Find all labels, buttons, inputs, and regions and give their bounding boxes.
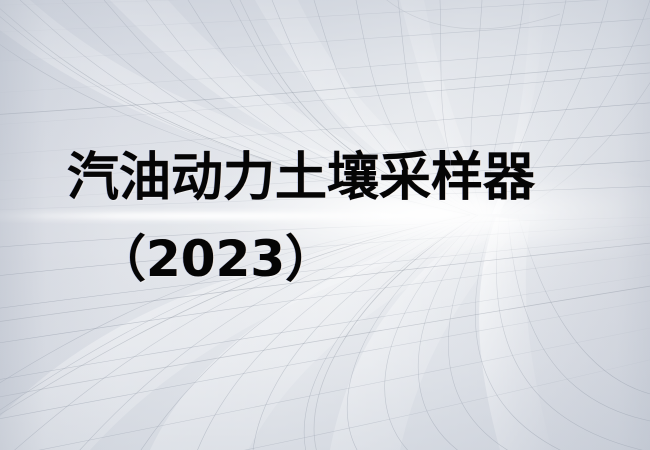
slide-title-year: （2023） — [96, 232, 335, 286]
slide-title: 汽油动力土壤采样器 — [67, 150, 535, 206]
slide-text-block: 汽油动力土壤采样器 （2023） — [0, 0, 650, 450]
title-slide: 汽油动力土壤采样器 （2023） — [0, 0, 650, 450]
